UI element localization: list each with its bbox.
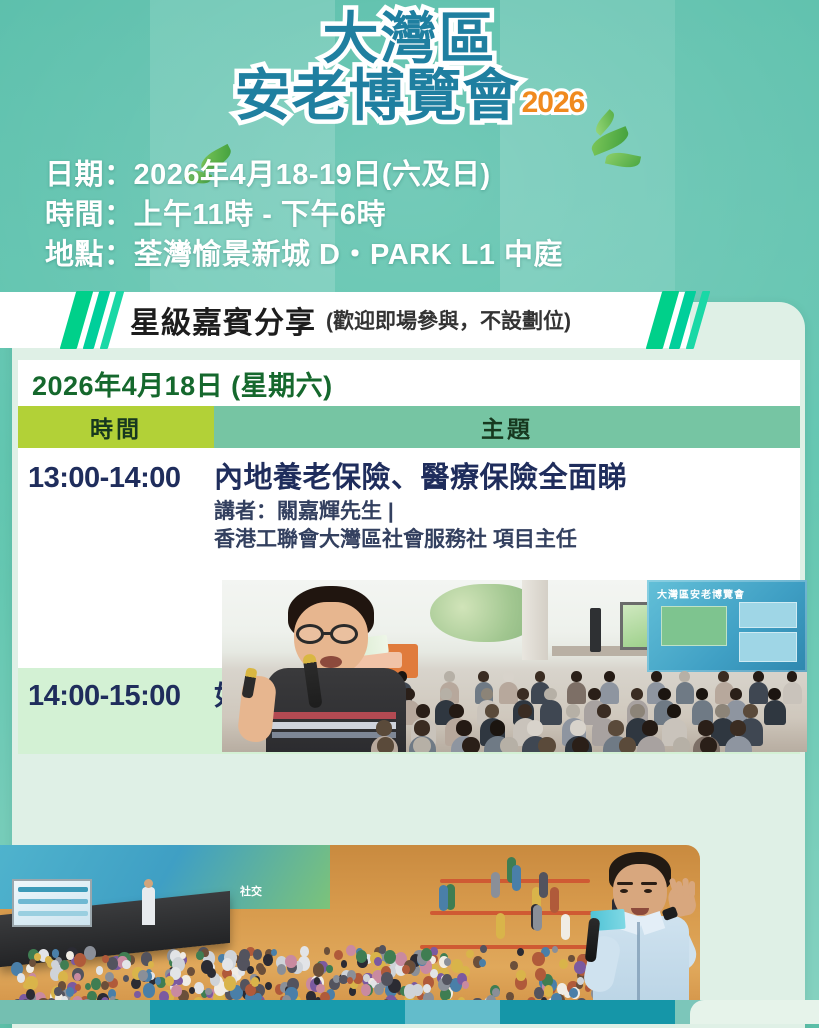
audience-dot: [334, 950, 343, 960]
audience-head: [462, 737, 479, 752]
walkway-person: [491, 872, 500, 898]
audience-dot: [381, 972, 393, 986]
session-1-main: 13:00-14:00 內地養老保險、醫療保險全面睇: [18, 448, 800, 496]
banner-stripes-right: [652, 292, 724, 348]
audience-body: [567, 682, 586, 704]
audience-dot: [181, 975, 191, 986]
audience-head: [518, 704, 532, 718]
audience-dot: [466, 950, 473, 958]
audience-head: [571, 671, 582, 682]
photo2-screen-line-3: [18, 911, 88, 916]
audience-dot: [187, 967, 196, 977]
audience-dot: [516, 970, 526, 981]
audience-head: [667, 704, 681, 718]
audience-head: [597, 704, 611, 718]
audience-dot: [421, 948, 432, 961]
audience-head: [570, 720, 586, 736]
walkway-person: [561, 914, 570, 940]
schedule-date-row: 2026年4月18日 (星期六): [18, 360, 800, 406]
audience-dot: [374, 957, 382, 966]
photo2-speaker-cutout: [585, 852, 703, 1022]
banner-stripes-left: [66, 292, 138, 348]
photo2-stage-screen: [12, 879, 92, 927]
glasses-bridge: [323, 632, 332, 635]
walkway-person: [539, 872, 548, 898]
audience-dot: [101, 981, 109, 991]
audience-dot: [263, 954, 274, 966]
audience-dot: [404, 984, 416, 998]
event-info-block: 日期：2026年4月18-19日(六及日) 時間：上午11時 - 下午6時 地點…: [45, 155, 563, 275]
audience-head: [456, 720, 472, 736]
session-1-photo: 大灣區安老博覽會: [222, 580, 807, 752]
audience-head: [588, 688, 600, 700]
audience-dot: [134, 991, 141, 999]
column-header-time-label: 時間: [90, 410, 142, 444]
logo-year: 2026: [522, 86, 585, 120]
audience-dot: [253, 949, 262, 959]
session-2-time: 14:00-15:00: [28, 680, 214, 713]
photo1-speaker-cutout: [236, 580, 436, 752]
audience-head: [440, 688, 452, 700]
photo2-screen-line-1: [18, 887, 88, 892]
audience-dot: [138, 970, 148, 981]
audience-dot: [462, 981, 469, 989]
walkway-person: [496, 913, 505, 939]
audience-dot: [577, 977, 584, 985]
audience-head: [642, 720, 658, 736]
audience-dot: [535, 968, 546, 981]
logo-title-line1: 大灣區: [323, 7, 497, 70]
walkway-person: [439, 885, 448, 911]
event-time-line: 時間：上午11時 - 下午6時: [45, 195, 563, 235]
audience-body: [499, 682, 518, 704]
audience-dot: [532, 952, 544, 966]
walkway-person: [512, 865, 521, 891]
audience-dot: [384, 950, 396, 964]
audience-head: [679, 671, 690, 682]
audience-dot: [361, 984, 371, 996]
logo-line-2-wrap: 安老博覽會 2026: [235, 67, 585, 124]
audience-dot: [123, 975, 129, 982]
audience-dot: [510, 961, 518, 970]
audience-head: [700, 737, 717, 752]
photo2-speaker-brow-right: [641, 882, 657, 885]
audience-dot: [194, 982, 205, 994]
audience-dot: [171, 985, 182, 997]
audience-dot: [326, 965, 332, 972]
audience-dot: [54, 987, 61, 996]
audience-head: [444, 671, 455, 682]
audience-dot: [26, 989, 35, 1000]
audience-dot: [165, 976, 174, 986]
audience-head: [730, 720, 746, 736]
audience-head: [651, 671, 662, 682]
audience-dot: [122, 960, 130, 970]
audience-dot: [247, 966, 254, 974]
event-logo: 大灣區 安老博覽會 2026: [0, 10, 819, 160]
audience-body: [676, 682, 695, 704]
session-1-speaker-line-2: 香港工聯會大灣區社會服務社 項目主任: [214, 526, 800, 554]
audience-dot: [75, 984, 81, 991]
walkway-person: [533, 905, 542, 931]
audience-dot: [148, 961, 154, 968]
audience-head: [478, 671, 489, 682]
bottom-band-2: [150, 1000, 335, 1024]
audience-head: [608, 720, 624, 736]
audience-dot: [444, 958, 451, 966]
audience-body: [764, 700, 786, 725]
audience-head: [743, 704, 757, 718]
audience-dot: [143, 983, 155, 997]
session-1-topic: 內地養老保險、醫療保險全面睇: [214, 454, 627, 496]
photo1-speaker-mouth: [320, 656, 342, 668]
audience-head: [787, 671, 798, 682]
audience-dot: [430, 969, 438, 978]
audience-head: [544, 688, 556, 700]
audience-head: [730, 688, 742, 700]
audience-head: [376, 720, 392, 736]
audience-dot: [517, 948, 524, 956]
session-1-speaker: 講者：關嘉輝先生 | 香港工聯會大灣區社會服務社 項目主任: [18, 496, 800, 555]
audience-body: [749, 682, 768, 704]
audience-dot: [66, 951, 74, 960]
audience-body: [600, 682, 619, 704]
audience-head: [485, 704, 499, 718]
photo1-backdrop-photo-1: [739, 602, 797, 628]
audience-head: [517, 688, 529, 700]
audience-dot: [52, 949, 59, 957]
audience-dot: [205, 988, 212, 996]
audience-head: [566, 704, 580, 718]
bottom-card-corner: [690, 1000, 819, 1024]
audience-dot: [374, 984, 383, 995]
audience-dot: [277, 964, 286, 975]
walkway-person: [550, 887, 559, 913]
bottom-band-5: [500, 1000, 675, 1024]
audience-dot: [479, 959, 486, 967]
banner-subtitle: (歡迎即場參與，不設劃位): [326, 305, 571, 335]
audience-dot: [544, 985, 554, 996]
audience-head: [500, 737, 517, 752]
banner-title: 星級嘉賓分享: [130, 298, 316, 342]
bottom-color-bar: [0, 1000, 819, 1024]
audience-dot: [196, 951, 203, 960]
audience-dot: [66, 987, 74, 996]
audience-dot: [51, 960, 59, 969]
audience-dot: [324, 947, 331, 955]
column-header-time: 時間: [18, 406, 214, 448]
audience-head: [527, 720, 543, 736]
logo-title-line2: 安老博覽會: [235, 67, 520, 124]
audience-head: [630, 704, 644, 718]
bottom-band-3: [335, 1000, 405, 1024]
glasses-icon-right: [330, 624, 358, 644]
schedule-date-heading: 2026年4月18日 (星期六): [32, 364, 333, 403]
audience-dot: [285, 955, 296, 968]
photo2-speaker-brow-left: [617, 882, 633, 885]
audience-head: [572, 737, 589, 752]
audience-head: [604, 671, 615, 682]
audience-dot: [349, 987, 356, 995]
audience-dot: [423, 984, 431, 993]
audience-head: [768, 688, 780, 700]
audience-dot: [265, 982, 272, 990]
audience-head: [696, 688, 708, 700]
glasses-icon-left: [296, 624, 324, 644]
audience-head: [413, 737, 430, 752]
bottom-band-4: [405, 1000, 500, 1024]
audience-dot: [568, 955, 575, 963]
audience-dot: [155, 977, 161, 984]
banner-title-wrap: 星級嘉賓分享 (歡迎即場參與，不設劃位): [130, 292, 571, 348]
audience-head: [449, 704, 463, 718]
audience-dot: [17, 973, 25, 982]
audience-head: [503, 671, 514, 682]
audience-dot: [569, 988, 578, 998]
audience-head: [673, 737, 690, 752]
audience-body: [540, 700, 562, 725]
audience-dot: [207, 968, 216, 978]
audience-head: [490, 720, 506, 736]
audience-dot: [189, 987, 195, 994]
photo2-stage-presenter: [142, 887, 155, 925]
audience-head: [619, 737, 636, 752]
audience-dot: [300, 946, 309, 957]
section-banner: 星級嘉賓分享 (歡迎即場參與，不設劃位): [0, 292, 819, 348]
schedule-header-row: 時間 主題: [18, 406, 800, 448]
audience-dot: [91, 978, 101, 990]
audience-head: [631, 688, 643, 700]
audience-dot: [34, 953, 41, 961]
audience-head: [658, 688, 670, 700]
audience-head: [481, 688, 493, 700]
audience-head: [698, 720, 714, 736]
audience-dot: [313, 963, 325, 976]
audience-dot: [356, 950, 367, 963]
audience-head: [753, 671, 764, 682]
audience-dot: [559, 959, 568, 969]
audience-dot: [341, 960, 348, 968]
audience-dot: [84, 946, 96, 960]
bottom-band-1: [0, 1000, 150, 1024]
audience-head: [538, 737, 555, 752]
column-header-topic: 主題: [214, 406, 800, 448]
photo2-speaker-eye-right: [644, 889, 652, 893]
session-1-speaker-line-1: 講者：關嘉輝先生 |: [214, 498, 800, 526]
audience-head: [535, 671, 546, 682]
audience-dot: [271, 949, 277, 956]
audience-dot: [480, 945, 487, 953]
audience-dot: [74, 953, 86, 967]
audience-dot: [60, 960, 69, 970]
audience-head: [718, 671, 729, 682]
audience-head: [414, 720, 430, 736]
logo-line-1-wrap: 大灣區: [323, 10, 497, 67]
photo1-backdrop-text: 大灣區安老博覽會: [657, 586, 745, 601]
event-venue-line: 地點：荃灣愉景新城 D・PARK L1 中庭: [45, 235, 563, 275]
audience-body: [783, 682, 802, 704]
photo2-speaker-eye-left: [620, 889, 628, 893]
photo2-screen-line-2: [18, 899, 88, 904]
event-date-line: 日期：2026年4月18-19日(六及日): [45, 155, 563, 195]
session-1-time: 13:00-14:00: [28, 462, 214, 495]
audience-dot: [346, 945, 356, 956]
audience-dot: [552, 946, 558, 953]
column-header-topic-label: 主題: [481, 410, 533, 444]
photo1-shirt-stripe-1: [272, 712, 396, 719]
photo2-backdrop-text: 社交: [240, 883, 262, 899]
audience-dot: [224, 976, 237, 990]
photo2-speaker-finger: [689, 881, 695, 897]
audience-dot: [239, 949, 250, 962]
audience-head: [715, 704, 729, 718]
audience-dot: [96, 966, 103, 974]
audience-dot: [74, 973, 81, 981]
audience-head: [377, 737, 394, 752]
